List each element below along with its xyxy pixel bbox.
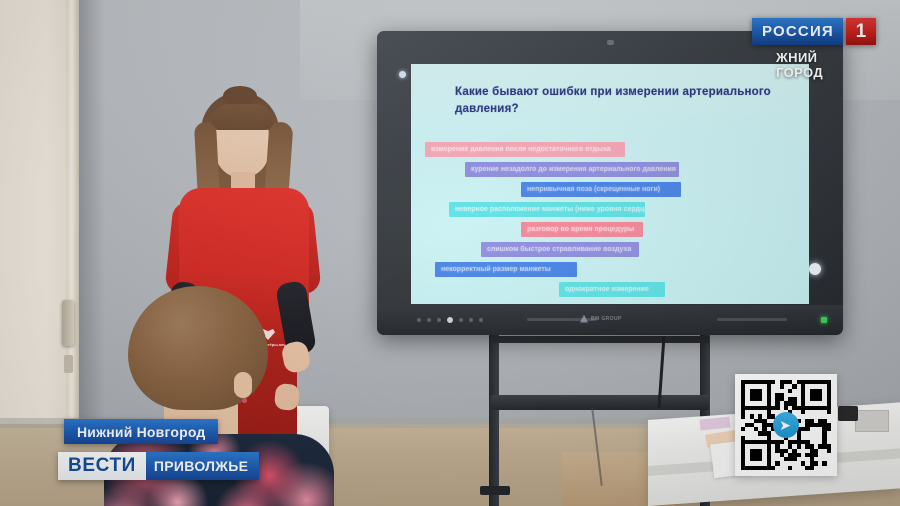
display-indicator-left xyxy=(399,71,406,78)
slide-bullet-text-7: некорректный размер манжеты xyxy=(435,262,577,277)
door-lock xyxy=(64,355,73,373)
door-shadow xyxy=(79,0,105,430)
slide-bullet-7: некорректный размер манжеты xyxy=(411,262,809,277)
channel-logo: РОССИЯ 1 xyxy=(752,18,876,45)
qr-code-overlay[interactable]: ➤ xyxy=(735,374,837,476)
lower-third-program-bar: ВЕСТИ ПРИВОЛЖЬЕ xyxy=(58,452,259,480)
slide-bullet-4: неверное расположение манжеты (ниже уров… xyxy=(411,202,809,217)
display-indicator-right xyxy=(809,263,821,275)
display-bottom-bezel: BM GROUP xyxy=(377,305,843,335)
slide-bullet-list: измерение давления после недостаточного … xyxy=(411,142,809,302)
power-plug xyxy=(838,406,858,421)
display-key-1[interactable] xyxy=(417,318,421,322)
slide-bullet-text-8: однократное измерение xyxy=(559,282,665,297)
presenter-hair-bun xyxy=(223,86,257,106)
display-key-3[interactable] xyxy=(437,318,441,322)
audience-earring xyxy=(242,398,247,403)
screen-watermark: ЖНИЙ ГОРОД xyxy=(776,50,850,80)
lower-third-city: Нижний Новгород xyxy=(64,419,218,444)
slide-bullet-text-4: неверное расположение манжеты (ниже уров… xyxy=(449,202,645,217)
display-screen: Какие бывают ошибки при измерении артери… xyxy=(411,64,809,304)
wall-outlet xyxy=(855,410,889,432)
display-key-2[interactable] xyxy=(427,318,431,322)
display-brand-logo: BM GROUP xyxy=(580,314,642,323)
display-key-5[interactable] xyxy=(469,318,473,322)
slide-bullet-text-3: непривычная поза (скрещенные ноги) xyxy=(521,182,681,197)
slide-bullet-text-6: слишком быстрое стравливание воздуха xyxy=(481,242,639,257)
channel-logo-name: РОССИЯ xyxy=(752,18,843,45)
display-key-4[interactable] xyxy=(459,318,463,322)
display-key-6[interactable] xyxy=(479,318,483,322)
display-key-home[interactable] xyxy=(447,317,453,323)
slide-bullet-6: слишком быстрое стравливание воздуха xyxy=(411,242,809,257)
slide-bullet-text-1: измерение давления после недостаточного … xyxy=(425,142,625,157)
slide-bullet-1: измерение давления после недостаточного … xyxy=(411,142,809,157)
audience-ear xyxy=(234,372,252,398)
broadcast-video-frame: Какие бывают ошибки при измерении артери… xyxy=(0,0,900,506)
lower-third-region: ПРИВОЛЖЬЕ xyxy=(146,452,259,480)
watermark-line-1: ЖНИЙ xyxy=(776,50,850,65)
telegram-glyph: ➤ xyxy=(779,418,791,432)
display-power-led[interactable] xyxy=(821,317,827,323)
display-stand-crossbar xyxy=(491,336,709,343)
display-stand-left-column xyxy=(489,335,499,506)
presentation-slide: Какие бывают ошибки при измерении артери… xyxy=(411,64,809,304)
display-brand-name: BM GROUP xyxy=(591,316,622,322)
display-speaker-grille-right xyxy=(717,318,787,321)
channel-logo-number: 1 xyxy=(846,18,876,45)
slide-bullet-8: однократное измерение xyxy=(411,282,809,297)
door-handle xyxy=(62,300,74,346)
telegram-icon: ➤ xyxy=(773,412,799,438)
interactive-whiteboard-display: Какие бывают ошибки при измерении артери… xyxy=(377,31,843,335)
slide-bullet-text-5: разговор во время процедуры xyxy=(521,222,643,237)
slide-bullet-3: непривычная поза (скрещенные ноги) xyxy=(411,182,809,197)
lower-third-program: ВЕСТИ xyxy=(58,452,146,480)
brand-triangle-icon xyxy=(580,315,588,323)
watermark-line-2: ГОРОД xyxy=(776,65,850,80)
presenter-hair-fringe xyxy=(211,104,273,130)
display-stand-foot xyxy=(480,486,510,495)
qr-module xyxy=(827,466,831,470)
slide-bullet-text-2: курение незадолго до измерения артериаль… xyxy=(465,162,679,177)
slide-bullet-2: курение незадолго до измерения артериаль… xyxy=(411,162,809,177)
slide-title: Какие бывают ошибки при измерении артери… xyxy=(455,84,785,119)
slide-bullet-5: разговор во время процедуры xyxy=(411,222,809,237)
display-stand-shelf xyxy=(491,395,709,410)
display-control-keys[interactable] xyxy=(417,317,483,323)
display-camera-icon xyxy=(607,40,614,45)
